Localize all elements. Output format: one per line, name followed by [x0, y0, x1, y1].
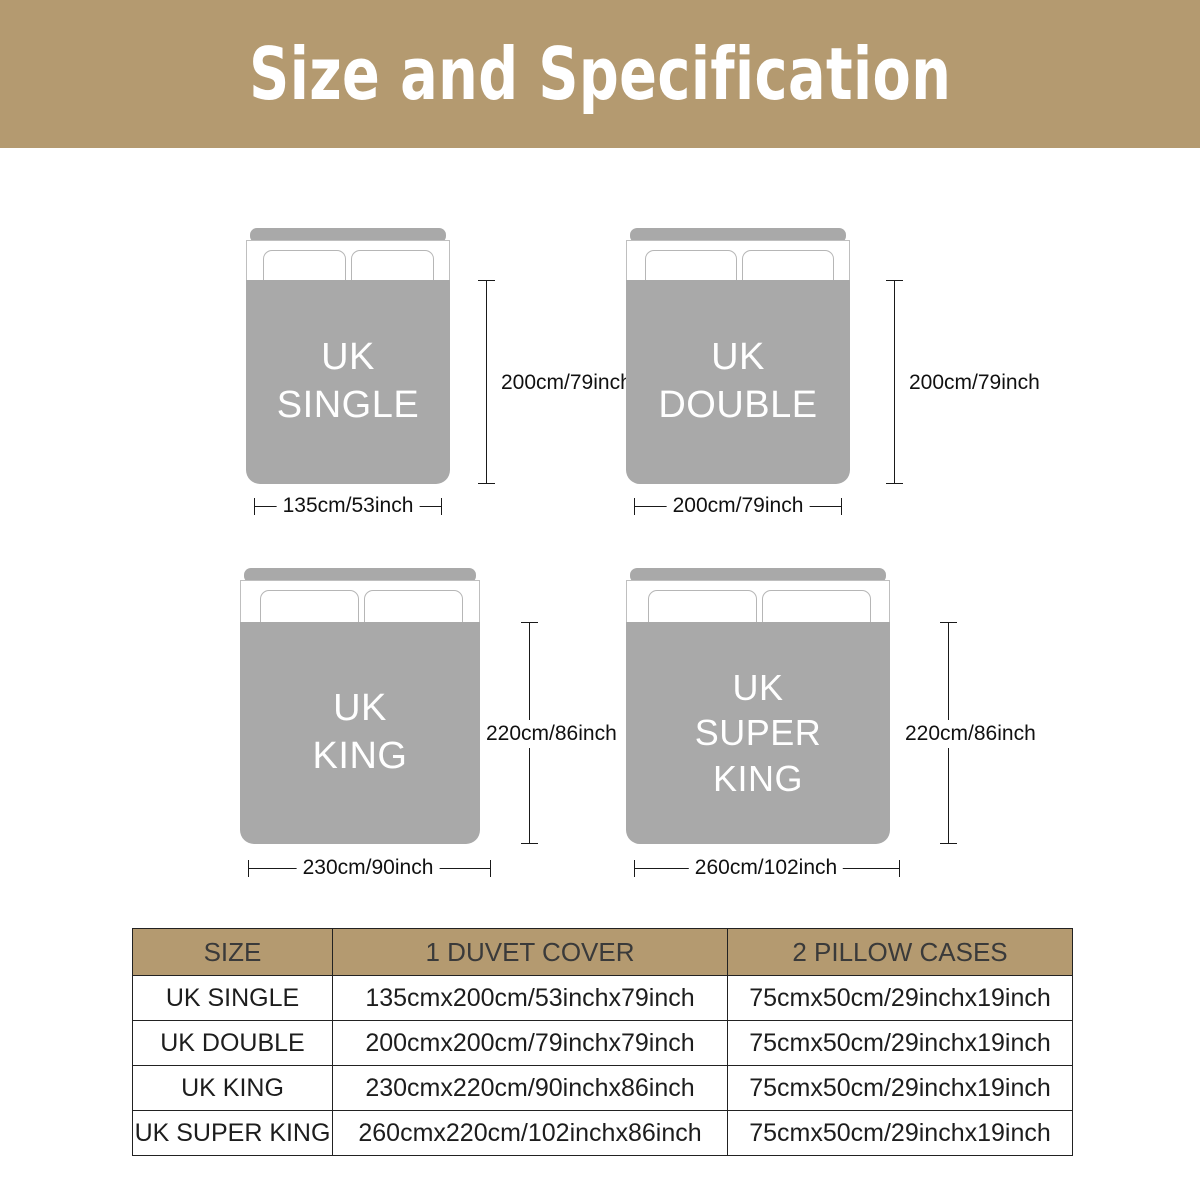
height-dimension-label: 200cm/79inch [906, 369, 1043, 397]
cell-size: UK KING [133, 1066, 333, 1111]
width-dimension-label: 200cm/79inch [667, 494, 810, 518]
specification-table: SIZE 1 DUVET COVER 2 PILLOW CASES UK SIN… [132, 928, 1073, 1156]
duvet-body: UK SUPER KING [626, 622, 890, 844]
width-dimension-label: 260cm/102inch [689, 856, 843, 880]
table-row: UK SUPER KING 260cmx220cm/102inchx86inch… [133, 1111, 1073, 1156]
table-row: UK KING 230cmx220cm/90inchx86inch 75cmx5… [133, 1066, 1073, 1111]
table-header-row: SIZE 1 DUVET COVER 2 PILLOW CASES [133, 929, 1073, 976]
bed-diagram-uk-king: UK KING 220cm/86inch 230cm/90inch [240, 568, 640, 878]
cell-duvet: 260cmx220cm/102inchx86inch [333, 1111, 728, 1156]
height-dimension-label: 220cm/86inch [483, 720, 620, 748]
dimension-cap-top [521, 622, 538, 623]
width-dimension-label: 135cm/53inch [277, 494, 420, 518]
dimension-cap-bottom [521, 843, 538, 844]
cell-size: UK DOUBLE [133, 1021, 333, 1066]
dimension-cap-top [886, 280, 903, 281]
bed-size-label: UK KING [313, 685, 408, 781]
header-banner: Size and Specification [0, 0, 1200, 148]
dimension-cap-left [634, 498, 635, 515]
dimension-cap-right [841, 498, 842, 515]
duvet-body: UK DOUBLE [626, 280, 850, 484]
duvet-body: UK SINGLE [246, 280, 450, 484]
table-row: UK SINGLE 135cmx200cm/53inchx79inch 75cm… [133, 976, 1073, 1021]
dimension-cap-top [478, 280, 495, 281]
dimension-cap-left [248, 860, 249, 877]
dimension-cap-right [441, 498, 442, 515]
dimension-cap-bottom [940, 843, 957, 844]
column-header-duvet: 1 DUVET COVER [333, 929, 728, 976]
bed-diagram-uk-double: UK DOUBLE 200cm/79inch 200cm/79inch [626, 228, 1026, 518]
height-dimension-label: 200cm/79inch [498, 369, 635, 397]
table-row: UK DOUBLE 200cmx200cm/79inchx79inch 75cm… [133, 1021, 1073, 1066]
dimension-cap-bottom [478, 483, 495, 484]
dimension-cap-right [899, 860, 900, 877]
cell-pillow: 75cmx50cm/29inchx19inch [728, 1111, 1073, 1156]
column-header-size: SIZE [133, 929, 333, 976]
cell-pillow: 75cmx50cm/29inchx19inch [728, 976, 1073, 1021]
bed-diagram-uk-single: UK SINGLE 200cm/79inch 135cm/53inch [246, 228, 586, 518]
height-dimension-line [894, 280, 895, 484]
dimension-cap-right [490, 860, 491, 877]
cell-pillow: 75cmx50cm/29inchx19inch [728, 1021, 1073, 1066]
bed-diagram-uk-super-king: UK SUPER KING 220cm/86inch 260cm/102inch [626, 568, 1046, 878]
bed-size-label: UK SUPER KING [695, 665, 822, 801]
bed-diagram-grid: UK SINGLE 200cm/79inch 135cm/53inch UK D… [0, 148, 1200, 918]
cell-pillow: 75cmx50cm/29inchx19inch [728, 1066, 1073, 1111]
width-dimension-label: 230cm/90inch [297, 856, 440, 880]
dimension-cap-top [940, 622, 957, 623]
dimension-cap-left [254, 498, 255, 515]
cell-size: UK SINGLE [133, 976, 333, 1021]
height-dimension-label: 220cm/86inch [902, 720, 1039, 748]
cell-duvet: 230cmx220cm/90inchx86inch [333, 1066, 728, 1111]
dimension-cap-left [634, 860, 635, 877]
cell-duvet: 135cmx200cm/53inchx79inch [333, 976, 728, 1021]
cell-duvet: 200cmx200cm/79inchx79inch [333, 1021, 728, 1066]
bed-size-label: UK DOUBLE [658, 334, 817, 430]
height-dimension-line [486, 280, 487, 484]
column-header-pillow: 2 PILLOW CASES [728, 929, 1073, 976]
page-title: Size and Specification [249, 38, 951, 110]
duvet-body: UK KING [240, 622, 480, 844]
bed-size-label: UK SINGLE [277, 334, 419, 430]
cell-size: UK SUPER KING [133, 1111, 333, 1156]
dimension-cap-bottom [886, 483, 903, 484]
